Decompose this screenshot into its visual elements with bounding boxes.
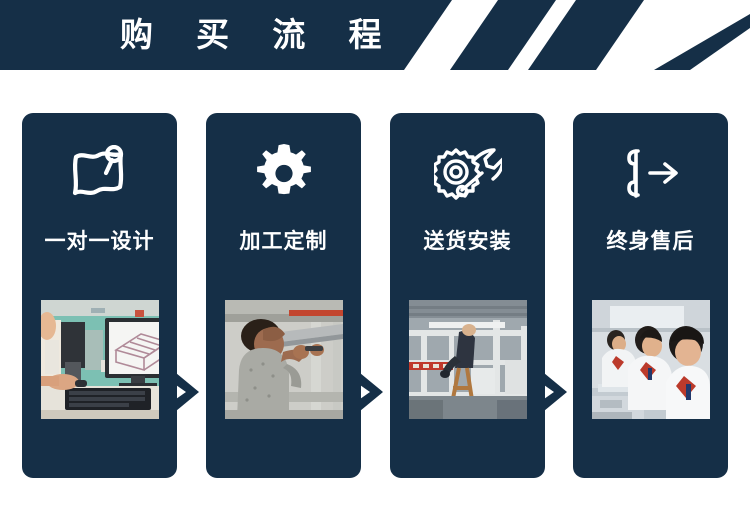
phone-arrow-icon (573, 133, 728, 215)
pinned-blueprint-icon (22, 133, 177, 215)
step-label: 终身售后 (573, 225, 728, 255)
step-photo-installation (409, 300, 527, 419)
step-card-delivery-installation[interactable]: 送货安装 (390, 113, 545, 478)
step-label: 加工定制 (206, 225, 361, 255)
step-label: 送货安装 (390, 225, 545, 255)
step-card-after-sales[interactable]: 终身售后 (573, 113, 728, 478)
gear-wrench-icon (390, 133, 545, 215)
step-label: 一对一设计 (22, 225, 177, 255)
chevron-right-icon (542, 371, 572, 413)
gear-icon (206, 133, 361, 215)
step-photo-design (41, 300, 159, 419)
purchase-process-steps: 一对一设计 (0, 113, 750, 478)
chevron-right-icon (174, 371, 204, 413)
page-header-banner: 购 买 流 程 (0, 0, 750, 70)
step-card-design[interactable]: 一对一设计 (22, 113, 177, 478)
step-photo-after-sales (592, 300, 710, 419)
chevron-right-icon (358, 371, 388, 413)
page-title: 购 买 流 程 (120, 12, 399, 58)
step-card-manufacturing[interactable]: 加工定制 (206, 113, 361, 478)
step-photo-manufacturing (225, 300, 343, 419)
